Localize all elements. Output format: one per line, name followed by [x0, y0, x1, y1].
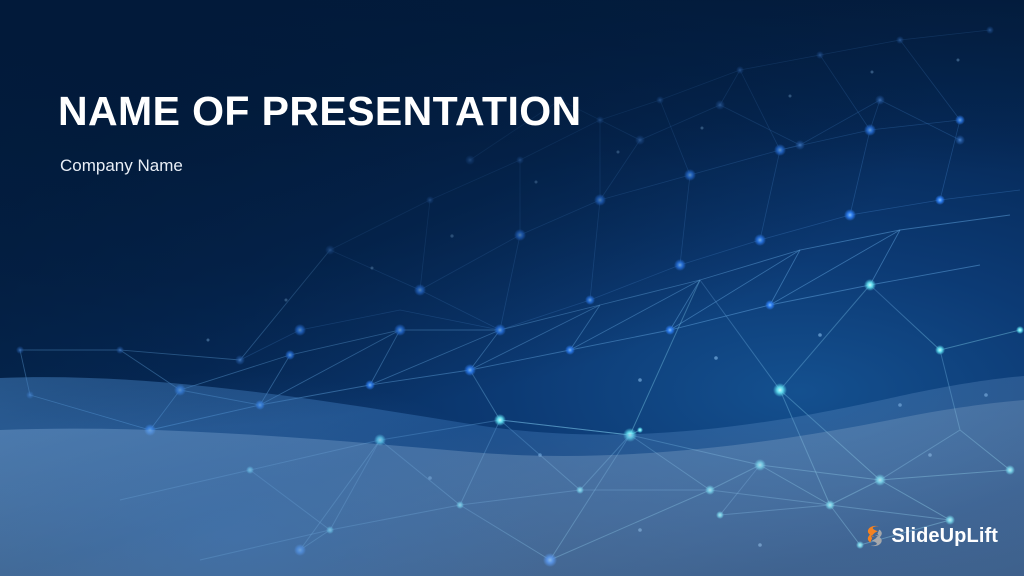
slideuplift-logo[interactable]: SlideUpLift [863, 524, 998, 548]
presentation-slide: NAME OF PRESENTATION Company Name SlideU… [0, 0, 1024, 576]
company-name-subtitle: Company Name [60, 156, 582, 176]
slideuplift-swirl-icon [863, 524, 885, 548]
page-title: NAME OF PRESENTATION [58, 88, 582, 134]
title-block: NAME OF PRESENTATION Company Name [58, 88, 582, 176]
logo-text: SlideUpLift [891, 526, 998, 546]
slide-vignette [0, 0, 1024, 576]
